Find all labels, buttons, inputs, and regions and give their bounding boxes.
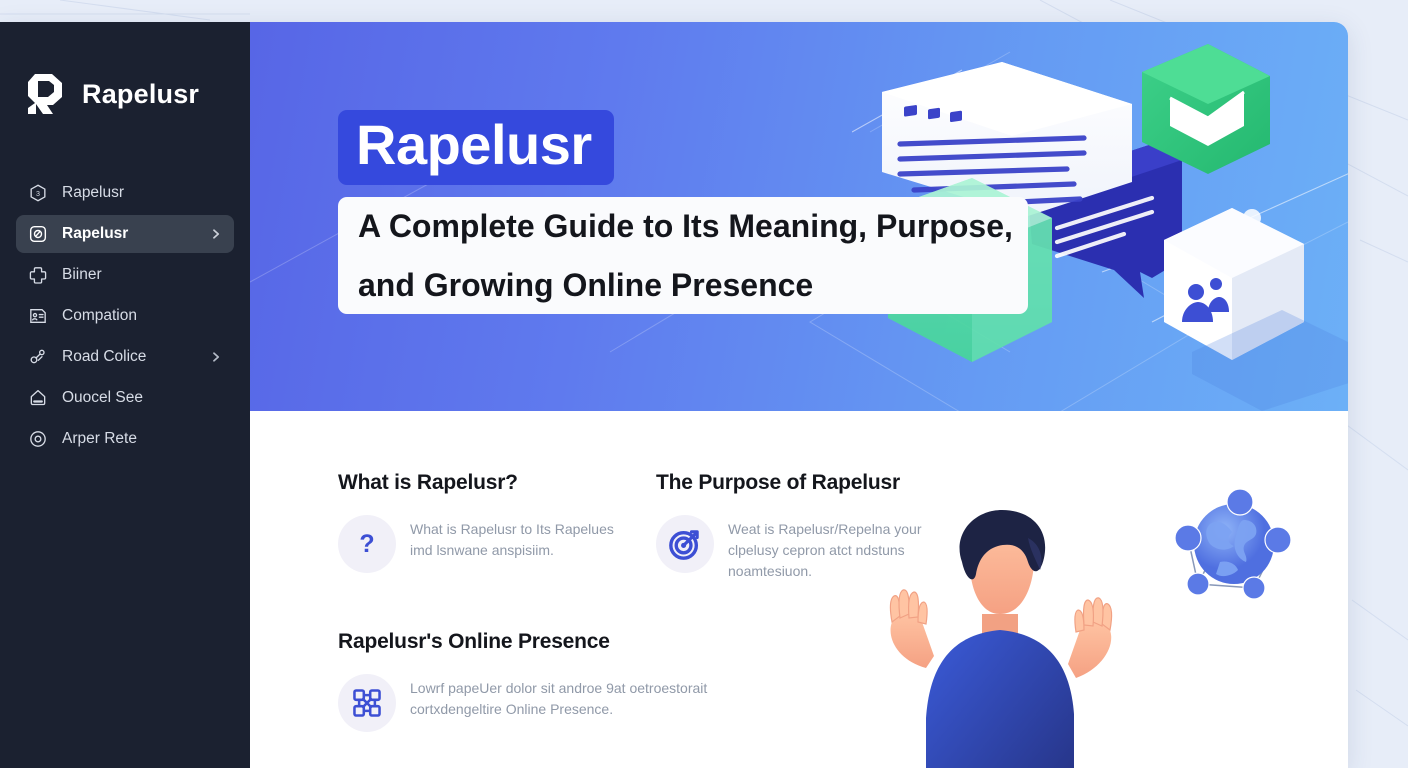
sidebar-item-label: Biiner <box>62 266 222 284</box>
link-chain-icon <box>28 347 48 367</box>
id-card-icon <box>28 306 48 326</box>
sidebar-item-label: Arper Rete <box>62 430 222 448</box>
section-what-is-rapelusr: What is Rapelusr? ? What is Rapelusr to … <box>338 471 618 582</box>
sidebar-item-label: Rapelusr <box>62 184 222 202</box>
section-text: What is Rapelusr to Its Rapelues imd lsn… <box>410 515 618 561</box>
hero-subtitle-line-2: and Growing Online Presence <box>338 256 833 315</box>
rapelusr-logo-icon <box>26 70 68 118</box>
sidebar-item-rapelusr-1[interactable]: 3 Rapelusr <box>16 174 234 212</box>
section-body: ? What is Rapelusr to Its Rapelues imd l… <box>338 515 618 573</box>
section-title: What is Rapelusr? <box>338 471 618 495</box>
svg-text:3: 3 <box>36 190 40 198</box>
question-mark-icon: ? <box>338 515 396 573</box>
network-grid-icon <box>338 674 396 732</box>
section-text: Weat is Rapelusr/Repelna your clpelusy c… <box>728 515 936 582</box>
sections-grid: What is Rapelusr? ? What is Rapelusr to … <box>338 471 978 732</box>
brand-name: Rapelusr <box>82 79 199 110</box>
section-body: Weat is Rapelusr/Repelna your clpelusy c… <box>656 515 936 582</box>
sidebar-item-label: Ouocel See <box>62 389 222 407</box>
section-text: Lowrf papeUer dolor sit androe 9at oetro… <box>410 674 738 720</box>
sidebar-item-road-colice[interactable]: Road Colice <box>16 338 234 376</box>
aperture-square-icon <box>28 224 48 244</box>
content-area: What is Rapelusr? ? What is Rapelusr to … <box>250 411 1348 768</box>
section-purpose-of-rapelusr: The Purpose of Rapelusr <box>656 471 936 582</box>
sidebar: Rapelusr 3 Rapelusr Rapelusr <box>0 22 250 768</box>
sidebar-item-ouocel-see[interactable]: Ouocel See <box>16 379 234 417</box>
chevron-right-icon[interactable] <box>210 228 222 240</box>
sidebar-item-label: Compation <box>62 307 222 325</box>
hero-text-block: Rapelusr A Complete Guide to Its Meaning… <box>338 110 1028 314</box>
brand-logo[interactable]: Rapelusr <box>0 56 250 132</box>
sidebar-item-biiner[interactable]: Biiner <box>16 256 234 294</box>
sections-row-2: Rapelusr's Online Presence <box>338 630 978 732</box>
hero-subtitle-line-1: A Complete Guide to Its Meaning, Purpose… <box>338 197 1033 256</box>
hero-badge: Rapelusr <box>338 110 614 185</box>
chevron-right-icon[interactable] <box>210 351 222 363</box>
sidebar-nav: 3 Rapelusr Rapelusr Biiner <box>0 174 250 458</box>
hexagon-three-icon: 3 <box>28 183 48 203</box>
sidebar-item-rapelusr-2[interactable]: Rapelusr <box>16 215 234 253</box>
target-circle-icon <box>28 429 48 449</box>
plus-cross-icon <box>28 265 48 285</box>
main-content: Rapelusr A Complete Guide to Its Meaning… <box>250 22 1348 768</box>
section-title: The Purpose of Rapelusr <box>656 471 936 495</box>
section-online-presence: Rapelusr's Online Presence <box>338 630 738 732</box>
target-arrow-icon <box>656 515 714 573</box>
sidebar-item-arper-rete[interactable]: Arper Rete <box>16 420 234 458</box>
sidebar-item-compation[interactable]: Compation <box>16 297 234 335</box>
sections-row-1: What is Rapelusr? ? What is Rapelusr to … <box>338 471 978 582</box>
hero-banner: Rapelusr A Complete Guide to Its Meaning… <box>250 22 1348 411</box>
sidebar-item-label: Road Colice <box>62 348 196 366</box>
app-window: Rapelusr 3 Rapelusr Rapelusr <box>0 22 1348 768</box>
section-title: Rapelusr's Online Presence <box>338 630 738 654</box>
hero-subtitle: A Complete Guide to Its Meaning, Purpose… <box>338 197 1028 314</box>
tag-home-icon <box>28 388 48 408</box>
section-body: Lowrf papeUer dolor sit androe 9at oetro… <box>338 674 738 732</box>
svg-text:?: ? <box>359 530 374 558</box>
sidebar-item-label: Rapelusr <box>62 225 196 243</box>
